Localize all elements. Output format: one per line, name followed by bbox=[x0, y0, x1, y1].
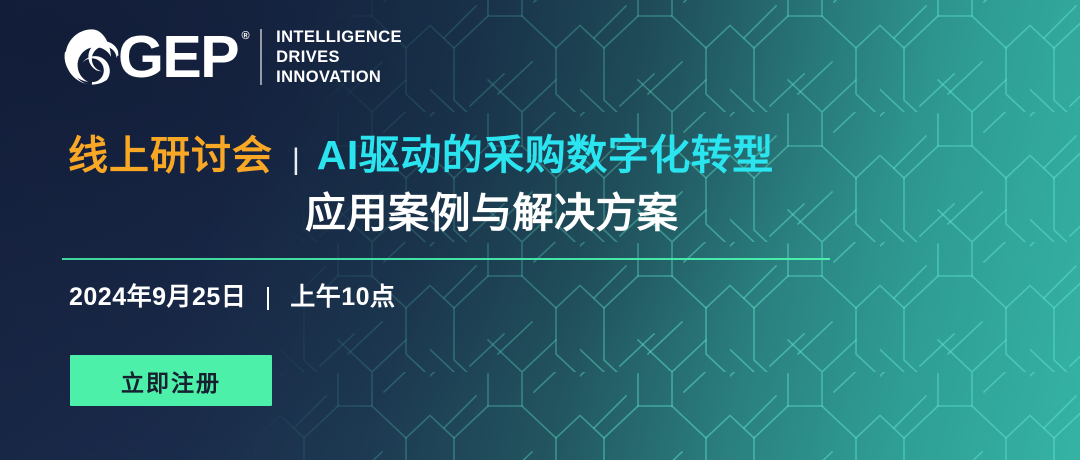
event-time: 上午10点 bbox=[290, 283, 395, 311]
event-date: 2024年9月25日 bbox=[69, 283, 246, 311]
tagline-line-2: DRIVES bbox=[276, 47, 402, 67]
tagline-line-1: INTELLIGENCE bbox=[276, 27, 402, 47]
event-datetime: 2024年9月25日 | 上午10点 bbox=[69, 281, 396, 313]
webinar-kicker: 线上研讨会 bbox=[68, 133, 273, 179]
gep-wordmark-text: GEP bbox=[118, 24, 238, 90]
tagline-line-3: INNOVATION bbox=[276, 67, 402, 87]
headline-title: AI驱动的采购数字化转型 bbox=[317, 132, 774, 178]
headline-separator: | bbox=[292, 137, 300, 183]
registered-trademark-icon: ® bbox=[242, 31, 249, 42]
gep-tagline: INTELLIGENCE DRIVES INNOVATION bbox=[276, 27, 402, 87]
section-divider bbox=[62, 258, 830, 260]
gep-spiral-logo-icon bbox=[62, 27, 122, 87]
event-datetime-separator: | bbox=[265, 283, 272, 311]
gep-wordmark: GEP ® bbox=[118, 27, 238, 87]
register-now-button[interactable]: 立即注册 bbox=[70, 355, 272, 406]
webinar-banner: GEP ® INTELLIGENCE DRIVES INNOVATION 线上研… bbox=[0, 0, 1080, 460]
logo-divider-rule bbox=[260, 29, 262, 85]
gep-logo: GEP ® INTELLIGENCE DRIVES INNOVATION bbox=[62, 27, 402, 87]
headline-primary-row: 线上研讨会 | AI驱动的采购数字化转型 bbox=[68, 132, 774, 183]
headline-subtitle: 应用案例与解决方案 bbox=[305, 190, 679, 236]
